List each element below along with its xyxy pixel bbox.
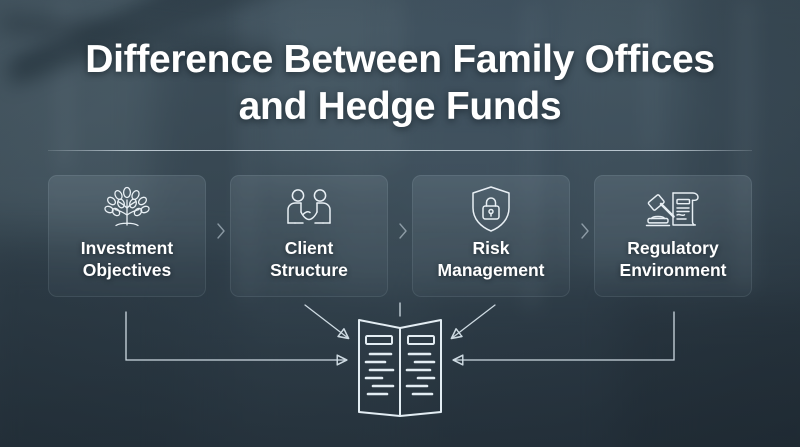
slide-canvas: Difference Between Family Offices and He… [0, 0, 800, 447]
chevron-right-icon [214, 221, 228, 241]
card-risk-management[interactable]: Risk Management [412, 175, 570, 297]
card-label: Investment Objectives [52, 237, 202, 281]
chevron-right-icon [578, 221, 592, 241]
category-card-row: Investment Objectives [48, 175, 752, 297]
shield-lock-icon [412, 184, 570, 234]
title-divider [48, 150, 752, 151]
handshake-icon [230, 184, 388, 234]
card-label: Client Structure [234, 237, 384, 281]
summary-document-icon [349, 316, 451, 426]
chevron-right-icon [396, 221, 410, 241]
card-label: Regulatory Environment [598, 237, 748, 281]
card-investment-objectives[interactable]: Investment Objectives [48, 175, 206, 297]
page-title: Difference Between Family Offices and He… [0, 36, 800, 130]
card-client-structure[interactable]: Client Structure [230, 175, 388, 297]
card-label: Risk Management [416, 237, 566, 281]
card-regulatory-environment[interactable]: Regulatory Environment [594, 175, 752, 297]
gavel-scroll-icon [594, 184, 752, 234]
tree-icon [48, 184, 206, 234]
